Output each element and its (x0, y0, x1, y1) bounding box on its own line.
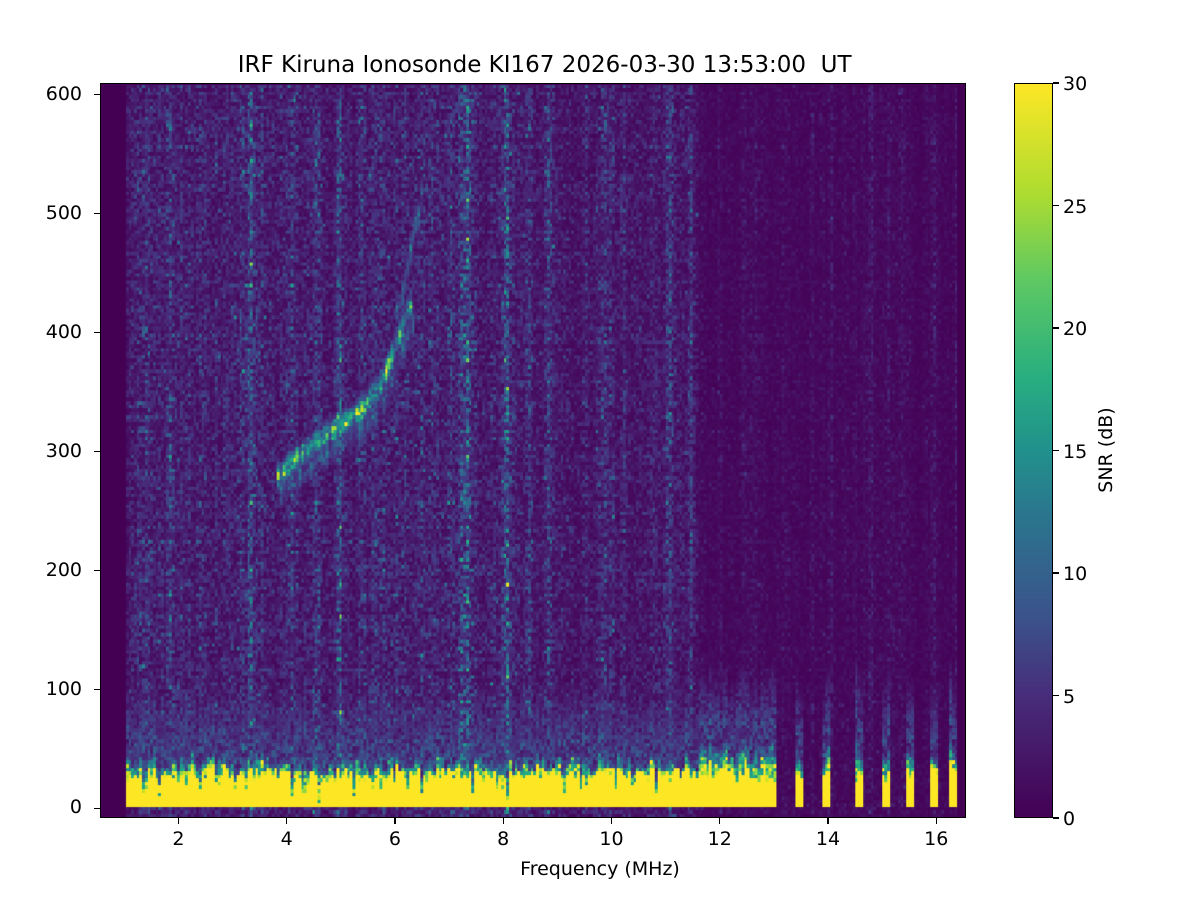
y-axis-tick-mark (94, 570, 100, 571)
x-axis-tick-label: 2 (138, 828, 218, 850)
colorbar-tick-label: 20 (1063, 318, 1087, 340)
colorbar-tick-mark (1053, 82, 1059, 83)
y-axis-tick-mark (94, 689, 100, 690)
y-axis-tick-label: 100 (0, 680, 82, 699)
colorbar-tick-label: 0 (1063, 808, 1075, 830)
y-axis-tick-label: 300 (0, 442, 82, 461)
y-axis-tick-label: 500 (0, 204, 82, 223)
colorbar-tick-label: 25 (1063, 196, 1087, 218)
title-line-1: IRF Kiruna Ionosonde KI167 2026-03-30 13… (238, 52, 852, 78)
colorbar-tick-label: 5 (1063, 686, 1075, 708)
x-axis-tick-mark (286, 818, 287, 824)
colorbar-label: SNR (dB) (1095, 407, 1117, 492)
colorbar-tick-mark (1053, 450, 1059, 451)
x-axis-tick-label: 8 (463, 828, 543, 850)
y-axis-tick-label: 400 (0, 323, 82, 342)
ionogram-figure: IRF Kiruna Ionosonde KI167 2026-03-30 13… (0, 0, 1200, 900)
x-axis-tick-label: 14 (788, 828, 868, 850)
y-axis-tick-mark (94, 213, 100, 214)
x-axis-tick-label: 10 (571, 828, 651, 850)
y-axis-tick-mark (94, 94, 100, 95)
x-axis-tick-mark (936, 818, 937, 824)
colorbar (1014, 83, 1053, 818)
colorbar-tick-label: 10 (1063, 563, 1087, 585)
x-axis-tick-mark (503, 818, 504, 824)
x-axis-tick-mark (394, 818, 395, 824)
y-axis-tick-mark (94, 808, 100, 809)
x-axis-tick-label: 4 (247, 828, 327, 850)
y-axis-tick-mark (94, 332, 100, 333)
y-axis-tick-label: 0 (0, 798, 82, 817)
y-axis-tick-mark (94, 451, 100, 452)
x-axis-tick-mark (827, 818, 828, 824)
colorbar-tick-mark (1053, 572, 1059, 573)
x-axis-tick-mark (178, 818, 179, 824)
ionogram-heatmap-canvas (101, 84, 965, 817)
x-axis-tick-label: 12 (680, 828, 760, 850)
ionogram-plot-area (100, 83, 966, 818)
colorbar-tick-mark (1053, 817, 1059, 818)
x-axis-tick-mark (611, 818, 612, 824)
x-axis-tick-mark (719, 818, 720, 824)
x-axis-tick-label: 6 (355, 828, 435, 850)
x-axis-tick-label: 16 (896, 828, 976, 850)
y-axis-tick-label: 600 (0, 85, 82, 104)
colorbar-tick-label: 15 (1063, 441, 1087, 463)
colorbar-tick-mark (1053, 695, 1059, 696)
x-axis-label: Frequency (MHz) (520, 858, 680, 880)
y-axis-tick-label: 200 (0, 561, 82, 580)
colorbar-tick-mark (1053, 205, 1059, 206)
colorbar-tick-mark (1053, 327, 1059, 328)
colorbar-tick-label: 30 (1063, 73, 1087, 95)
